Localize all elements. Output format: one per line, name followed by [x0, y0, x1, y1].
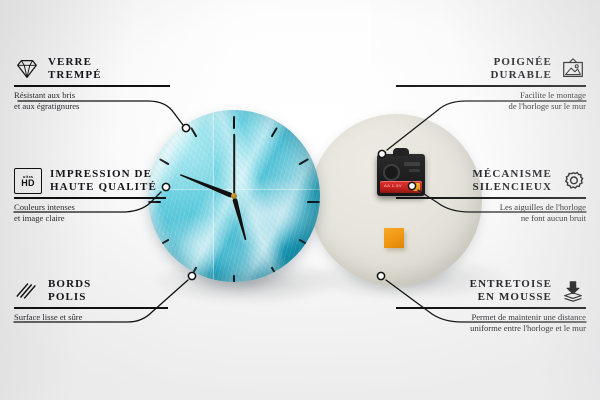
feature-verre-trempe[interactable]: VERRE TREMPÉ Résistant aux bris et aux é… [14, 56, 200, 112]
hanger-tab-icon [393, 148, 409, 156]
product-feature-infographic: AA 1.5V [0, 0, 600, 400]
feature-description: Résistant aux bris et aux égratignures [14, 90, 200, 112]
feature-title: VERRE TREMPÉ [48, 56, 102, 82]
gear-icon [560, 169, 586, 193]
polished-edges-icon [14, 279, 40, 303]
feature-title: IMPRESSION DE HAUTE QUALITÉ [50, 168, 157, 194]
foam-spacer-icon [560, 279, 586, 303]
foam-spacer [384, 228, 404, 248]
picture-frame-icon [560, 57, 586, 81]
feature-impression-haute-qualite[interactable]: ultra HD IMPRESSION DE HAUTE QUALITÉ Cou… [14, 168, 204, 224]
mechanism-slot [404, 162, 420, 166]
feature-title: ENTRETOISE EN MOUSSE [470, 278, 552, 304]
feature-title: POIGNÉE DURABLE [491, 56, 553, 82]
feature-description: Les aiguilles de l'horloge ne font aucun… [396, 202, 586, 224]
feature-title: BORDS POLIS [48, 278, 91, 304]
feature-rule [396, 197, 586, 199]
feature-bords-polis[interactable]: BORDS POLIS Surface lisse et sûre [14, 278, 200, 323]
feature-rule [14, 85, 170, 87]
feature-rule [14, 307, 168, 309]
feature-description: Surface lisse et sûre [14, 312, 200, 323]
feature-description: Facilite le montage de l'horloge sur le … [396, 90, 586, 112]
feature-rule [14, 197, 166, 199]
feature-description: Couleurs intenses et image claire [14, 202, 204, 224]
feature-description: Permet de maintenir une distance uniform… [396, 312, 586, 334]
ultra-hd-icon: ultra HD [14, 168, 42, 194]
feature-mecanisme-silencieux[interactable]: MÉCANISME SILENCIEUX Les aiguilles de l'… [396, 168, 586, 224]
feature-rule [396, 307, 586, 309]
diamond-icon [14, 57, 40, 81]
feature-poignee-durable[interactable]: POIGNÉE DURABLE Facilite le montage de l… [396, 56, 586, 112]
feature-title: MÉCANISME SILENCIEUX [472, 168, 552, 194]
feature-entretoise-en-mousse[interactable]: ENTRETOISE EN MOUSSE Permet de maintenir… [396, 278, 586, 334]
feature-rule [396, 85, 586, 87]
